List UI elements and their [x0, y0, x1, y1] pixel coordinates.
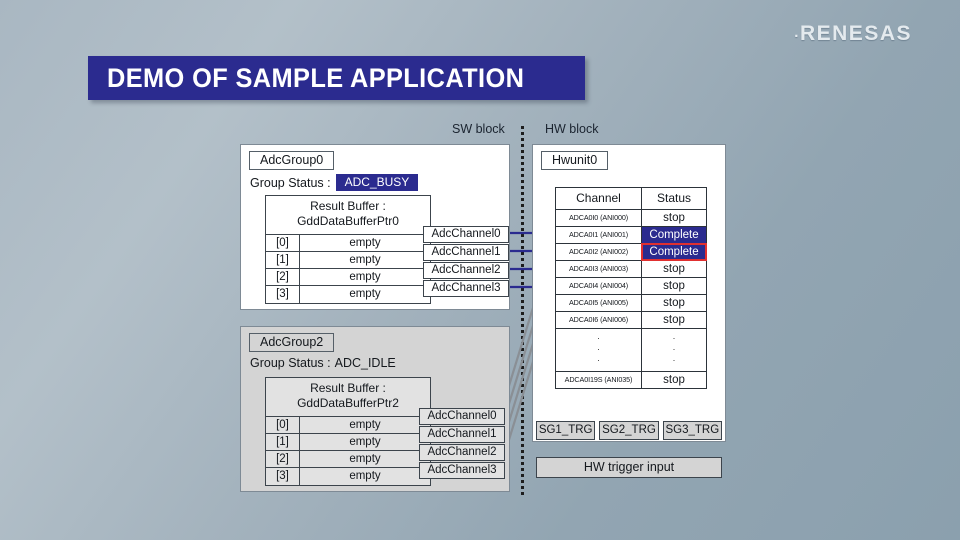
- sw-block-caption: SW block: [452, 122, 505, 136]
- channel-ellipsis: · · ·: [556, 329, 642, 371]
- channel-status: stop: [642, 210, 706, 226]
- ellipsis-dot: ·: [556, 344, 641, 355]
- table-row: [3] empty: [266, 468, 430, 485]
- hw-unit-0-label: Hwunit0: [541, 151, 608, 170]
- ellipsis-dot: ·: [556, 355, 641, 366]
- adc-group-0-status-value: ADC_BUSY: [336, 174, 419, 191]
- buffer-value: empty: [300, 269, 430, 285]
- buffer-index: [0]: [266, 417, 300, 433]
- adc-group-0-status: Group Status : ADC_BUSY: [250, 174, 418, 191]
- channel-status: stop: [642, 312, 706, 328]
- channel-name: ADCA0I0 (ANI000): [556, 210, 642, 226]
- buffer-index: [1]: [266, 252, 300, 268]
- table-row: ADCA0I2 (ANI002) Complete: [556, 244, 706, 261]
- buffer-value: empty: [300, 451, 430, 467]
- table-row: [2] empty: [266, 451, 430, 468]
- ellipsis-dot: ·: [642, 344, 706, 355]
- table-row: ADCA0I3 (ANI003) stop: [556, 261, 706, 278]
- table-row: [3] empty: [266, 286, 430, 303]
- channel-name: ADCA0I3 (ANI003): [556, 261, 642, 277]
- adc-group-2-label: AdcGroup2: [249, 333, 334, 352]
- channel-name: ADCA0I19S (ANI035): [556, 372, 642, 388]
- channel-name: ADCA0I1 (ANI001): [556, 227, 642, 243]
- channel-status-highlighted: Complete: [642, 244, 706, 260]
- channel-status: stop: [642, 278, 706, 294]
- table-ellipsis-row: · · · · · ·: [556, 329, 706, 372]
- buffer-value: empty: [300, 235, 430, 251]
- ellipsis-dot: ·: [556, 333, 641, 344]
- channel-status: stop: [642, 295, 706, 311]
- sg1-trg-button[interactable]: SG1_TRG: [536, 421, 595, 440]
- adc-group-2-status-label: Group Status :: [250, 356, 331, 370]
- buffer-value: empty: [300, 252, 430, 268]
- buffer-index: [1]: [266, 434, 300, 450]
- channel-name: ADCA0I5 (ANI005): [556, 295, 642, 311]
- ellipsis-dot: ·: [642, 355, 706, 366]
- adc-group-2-status: Group Status : ADC_IDLE: [250, 356, 396, 370]
- channel-status: Complete: [642, 227, 706, 243]
- column-header-status: Status: [642, 188, 706, 209]
- table-row: [1] empty: [266, 252, 430, 269]
- buffer-index: [3]: [266, 468, 300, 485]
- buffer-title-line2: GddDataBufferPtr0: [266, 214, 430, 229]
- adc-group-2-channel-3[interactable]: AdcChannel3: [419, 462, 505, 479]
- table-row: [0] empty: [266, 417, 430, 434]
- adc-group-0-channel-0[interactable]: AdcChannel0: [423, 226, 509, 243]
- page-title: DEMO OF SAMPLE APPLICATION: [107, 63, 524, 94]
- channel-status: stop: [642, 372, 706, 388]
- hw-trigger-input-button[interactable]: HW trigger input: [536, 457, 722, 478]
- table-row: ADCA0I5 (ANI005) stop: [556, 295, 706, 312]
- adc-group-2-channel-0[interactable]: AdcChannel0: [419, 408, 505, 425]
- sg3-trg-button[interactable]: SG3_TRG: [663, 421, 722, 440]
- channel-name: ADCA0I2 (ANI002): [556, 244, 642, 260]
- table-row: [2] empty: [266, 269, 430, 286]
- adc-group-0-channel-2[interactable]: AdcChannel2: [423, 262, 509, 279]
- status-ellipsis: · · ·: [642, 329, 706, 371]
- adc-group-0-result-buffer: Result Buffer : GddDataBufferPtr0 [0] em…: [265, 195, 431, 304]
- adc-group-2-channel-2[interactable]: AdcChannel2: [419, 444, 505, 461]
- hw-block-caption: HW block: [545, 122, 598, 136]
- adc-group-2-result-buffer: Result Buffer : GddDataBufferPtr2 [0] em…: [265, 377, 431, 486]
- buffer-title-line1: Result Buffer :: [266, 199, 430, 214]
- renesas-logo: .RENESAS: [794, 22, 912, 46]
- logo-text: RENESAS: [800, 22, 912, 45]
- adc-group-0-channel-1[interactable]: AdcChannel1: [423, 244, 509, 261]
- buffer-value: empty: [300, 286, 430, 303]
- adc-group-2-channel-1[interactable]: AdcChannel1: [419, 426, 505, 443]
- buffer-title-line1: Result Buffer :: [266, 381, 430, 396]
- buffer-value: empty: [300, 468, 430, 485]
- buffer-index: [2]: [266, 451, 300, 467]
- buffer-index: [2]: [266, 269, 300, 285]
- table-row: [1] empty: [266, 434, 430, 451]
- table-row: [0] empty: [266, 235, 430, 252]
- adc-group-2: AdcGroup2 Group Status : ADC_IDLE Result…: [240, 326, 510, 492]
- adc-group-0: AdcGroup0 Group Status : ADC_BUSY Result…: [240, 144, 510, 310]
- adc-group-0-label: AdcGroup0: [249, 151, 334, 170]
- trigger-button-row: SG1_TRG SG2_TRG SG3_TRG: [536, 421, 722, 440]
- channel-status-table: Channel Status ADCA0I0 (ANI000) stop ADC…: [555, 187, 707, 389]
- column-header-channel: Channel: [556, 188, 642, 209]
- hw-unit-0: Hwunit0 Channel Status ADCA0I0 (ANI000) …: [532, 144, 726, 442]
- ellipsis-dot: ·: [642, 333, 706, 344]
- buffer-index: [3]: [266, 286, 300, 303]
- adc-group-2-buffer-title: Result Buffer : GddDataBufferPtr2: [266, 378, 430, 417]
- adc-group-2-status-value: ADC_IDLE: [335, 356, 396, 370]
- table-row: ADCA0I1 (ANI001) Complete: [556, 227, 706, 244]
- buffer-title-line2: GddDataBufferPtr2: [266, 396, 430, 411]
- table-header-row: Channel Status: [556, 188, 706, 210]
- adc-group-0-channel-3[interactable]: AdcChannel3: [423, 280, 509, 297]
- buffer-index: [0]: [266, 235, 300, 251]
- table-row: ADCA0I19S (ANI035) stop: [556, 372, 706, 388]
- buffer-value: empty: [300, 434, 430, 450]
- buffer-value: empty: [300, 417, 430, 433]
- table-row: ADCA0I0 (ANI000) stop: [556, 210, 706, 227]
- channel-name: ADCA0I6 (ANI006): [556, 312, 642, 328]
- channel-name: ADCA0I4 (ANI004): [556, 278, 642, 294]
- adc-group-0-buffer-title: Result Buffer : GddDataBufferPtr0: [266, 196, 430, 235]
- channel-status: stop: [642, 261, 706, 277]
- slide-title-banner: DEMO OF SAMPLE APPLICATION: [88, 56, 585, 100]
- sg2-trg-button[interactable]: SG2_TRG: [599, 421, 658, 440]
- table-row: ADCA0I6 (ANI006) stop: [556, 312, 706, 329]
- table-row: ADCA0I4 (ANI004) stop: [556, 278, 706, 295]
- sw-hw-divider: [521, 126, 524, 495]
- adc-group-0-status-label: Group Status :: [250, 176, 331, 190]
